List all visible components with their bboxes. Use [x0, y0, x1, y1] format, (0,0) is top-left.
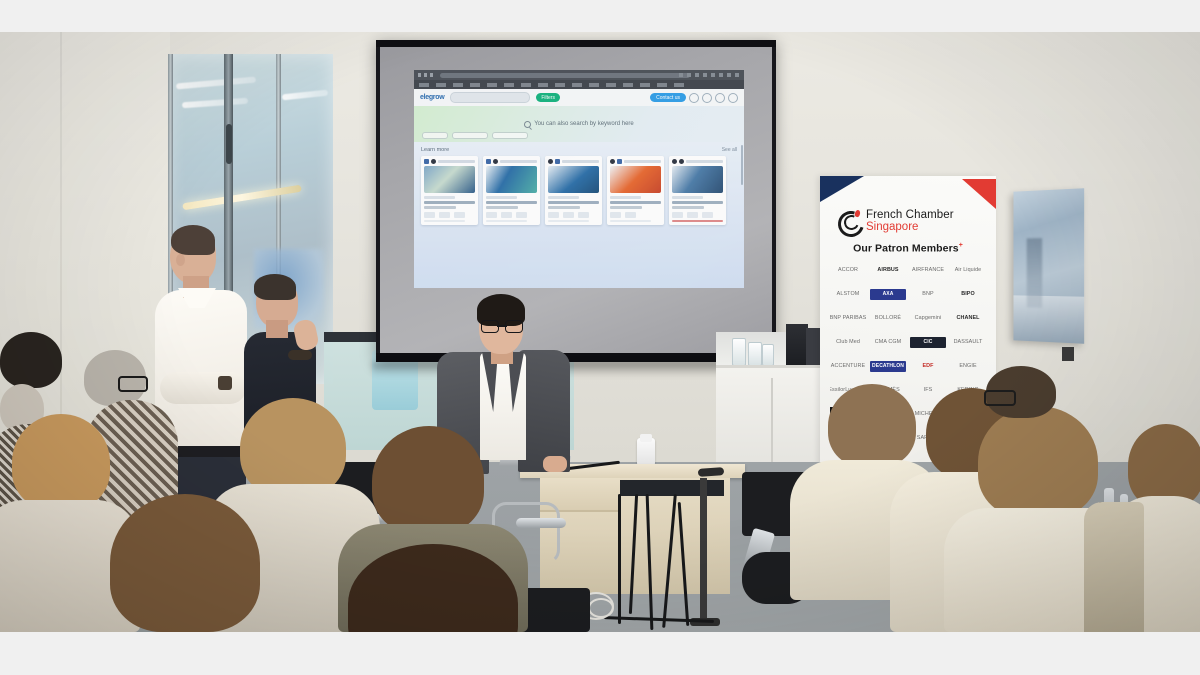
patron-logo: BIPO	[950, 286, 986, 302]
hero-search-hint[interactable]: You can also search by keyword here	[524, 121, 634, 128]
patron-logo: Air Liquide	[950, 262, 986, 278]
coiled-cable	[588, 598, 614, 618]
patron-logo: DASSAULT	[950, 334, 986, 350]
patron-title: Our Patron Members+	[820, 242, 996, 255]
catalog-card[interactable]	[607, 156, 664, 225]
audience-head	[240, 398, 346, 498]
patron-logo: IFS	[910, 382, 946, 398]
pendant-light	[182, 185, 302, 211]
filter-chip-industry[interactable]	[492, 132, 528, 139]
app-nav-actions: Contact us	[650, 93, 738, 103]
french-chamber-logo: French Chamber Singapore	[838, 210, 954, 233]
glasses	[984, 390, 1016, 406]
app-filter-pill[interactable]: Filters	[536, 93, 560, 102]
browser-url-bar	[440, 73, 690, 78]
letterbox-bottom	[0, 632, 1200, 675]
glass-tumbler	[732, 338, 746, 366]
avatar[interactable]	[728, 93, 738, 103]
audience-head	[372, 426, 484, 534]
catalog-card[interactable]	[669, 156, 726, 225]
door-handle[interactable]	[226, 124, 232, 164]
patron-logo: CMA CGM	[870, 334, 906, 350]
patron-logo: AIRBUS	[870, 262, 906, 278]
audience-head	[0, 332, 62, 388]
brand-line-2: Singapore	[866, 222, 954, 234]
filter-chip-category[interactable]	[422, 132, 448, 139]
patron-logo: CHANEL	[950, 310, 986, 326]
hero-filter-chips	[422, 132, 528, 139]
bell-icon[interactable]	[702, 93, 712, 103]
audience-head	[978, 406, 1098, 518]
catalog-card[interactable]	[483, 156, 540, 225]
catalog-see-all[interactable]: See all	[722, 147, 737, 153]
patron-logo: BNP	[910, 286, 946, 302]
app-catalog: Learn more See all	[414, 142, 744, 288]
cable	[618, 494, 621, 624]
patron-logo: CIC	[910, 337, 946, 348]
filter-chip-location[interactable]	[452, 132, 488, 139]
photograph: elegrow Filters Contact us	[0, 32, 1200, 632]
glass-tumbler	[748, 342, 762, 366]
draped-jacket	[1084, 502, 1144, 632]
chair-arm	[516, 518, 566, 528]
patron-logo: ENGIE	[950, 358, 986, 374]
card-thumbnail	[548, 166, 599, 193]
help-icon[interactable]	[715, 93, 725, 103]
card-thumbnail	[486, 166, 537, 193]
banner-corner-navy	[820, 176, 864, 202]
catalog-section-title: Learn more	[421, 147, 449, 153]
framed-artwork	[1013, 188, 1084, 344]
app-hero-banner: You can also search by keyword here	[414, 106, 744, 142]
projection-screen: elegrow Filters Contact us	[376, 40, 776, 360]
scrollbar[interactable]	[741, 145, 743, 185]
power-adapter	[637, 438, 655, 466]
browser-chrome	[414, 70, 744, 80]
banner-corner-red	[962, 179, 996, 209]
audience-head	[828, 384, 916, 468]
patron-logo: Capgemini	[910, 310, 946, 326]
app-cta-button[interactable]: Contact us	[650, 93, 686, 102]
patron-logo: ACCENTURE	[830, 358, 866, 374]
patron-logo: AIRFRANCE	[910, 262, 946, 278]
card-thumbnail	[610, 166, 661, 193]
app-logo: elegrow	[420, 94, 444, 101]
catalog-card[interactable]	[421, 156, 478, 225]
patron-logo: BNP PARIBAS	[830, 310, 866, 326]
projected-browser: elegrow Filters Contact us	[414, 70, 744, 288]
projection-surface: elegrow Filters Contact us	[380, 44, 772, 356]
browser-bookmarks-bar	[414, 80, 744, 89]
glass-tumbler	[762, 344, 774, 366]
shelf-books	[786, 324, 808, 368]
patron-logo: AXA	[870, 289, 906, 300]
catalog-card-grid	[421, 156, 737, 225]
hero-search-text: You can also search by keyword here	[534, 121, 634, 127]
screen-top-bar	[376, 40, 776, 47]
brand-line-1: French Chamber	[866, 210, 954, 222]
browser-toolbar-icons	[679, 73, 739, 77]
letterbox-top	[0, 0, 1200, 32]
patron-logo: Club Med	[830, 334, 866, 350]
card-thumbnail	[424, 166, 475, 193]
glasses	[481, 320, 523, 332]
desk-leg	[700, 478, 707, 623]
audience-head	[110, 494, 260, 632]
catalog-card[interactable]	[545, 156, 602, 225]
app-navbar: elegrow Filters Contact us	[414, 89, 744, 106]
patron-logo: ALSTOM	[830, 286, 866, 302]
patron-logo: BOLLORÉ	[870, 310, 906, 326]
audience-head	[12, 414, 110, 510]
app-search-input[interactable]	[450, 92, 530, 103]
patron-logo: DECATHLON	[870, 361, 906, 372]
browser-tab-controls	[418, 73, 436, 77]
search-icon	[524, 121, 531, 128]
artwork-wall-label	[1062, 347, 1074, 361]
patron-logo: EDF	[910, 358, 946, 374]
patron-logo: ACCOR	[830, 262, 866, 278]
cci-mark-icon	[838, 210, 861, 233]
glasses	[118, 376, 148, 392]
card-thumbnail	[672, 166, 723, 193]
share-icon[interactable]	[689, 93, 699, 103]
screenshot-root: elegrow Filters Contact us	[0, 0, 1200, 675]
catalog-section-header: Learn more See all	[421, 147, 737, 153]
